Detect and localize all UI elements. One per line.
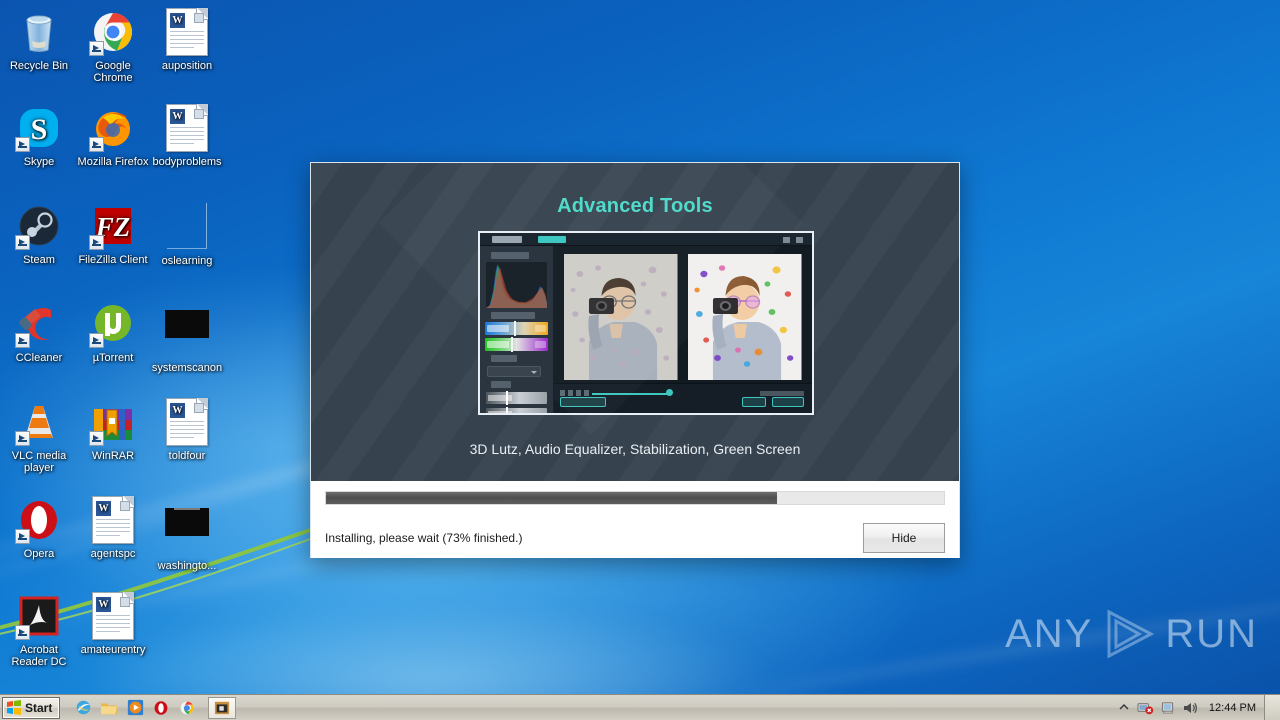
desktop-icon-label: Opera: [2, 548, 76, 560]
shortcut-overlay-icon: [15, 529, 30, 544]
desktop-icon-label: systemscanon: [150, 362, 224, 374]
banner-caption: 3D Lutz, Audio Equalizer, Stabilization,…: [311, 441, 959, 457]
system-tray[interactable]: 12:44 PM: [1113, 695, 1280, 720]
desktop-icon-label: oslearning: [150, 255, 224, 267]
opera-icon: [15, 496, 63, 544]
desktop-icon-opera[interactable]: Opera: [2, 496, 76, 560]
desktop-icon-label: auposition: [150, 60, 224, 72]
desktop-icon-ccleaner[interactable]: CCleaner: [2, 300, 76, 364]
desktop-icon-grid[interactable]: Recycle Bin Google Chrome W: [0, 0, 240, 690]
desktop-icon-steam[interactable]: Steam: [2, 202, 76, 266]
shortcut-overlay-icon: [89, 431, 104, 446]
zoom-slider-track[interactable]: [592, 393, 672, 395]
desktop-icon-label: VLC media player: [2, 450, 76, 474]
desktop-icon-skype[interactable]: S Skype: [2, 104, 76, 168]
desktop-icon-label: CCleaner: [2, 352, 76, 364]
filezilla-icon: FZ: [89, 202, 137, 250]
anyrun-watermark: ANY RUN: [1005, 608, 1258, 660]
exposure-slider[interactable]: [486, 392, 547, 404]
anyrun-play-logo-icon: [1101, 608, 1157, 660]
start-label: Start: [25, 701, 52, 715]
compare-split-icon[interactable]: [576, 390, 581, 396]
banner-title: Advanced Tools: [311, 163, 959, 218]
taskbar-internet-explorer[interactable]: [70, 697, 96, 719]
start-button[interactable]: Start: [2, 697, 60, 719]
mozilla-firefox-icon: [89, 104, 137, 152]
recycle-bin-icon: [15, 8, 63, 56]
desktop-icon-label: amateurentry: [76, 644, 150, 656]
cancel-button[interactable]: [772, 397, 804, 407]
action-center-flag-icon[interactable]: [1157, 697, 1179, 719]
histogram-graph: [486, 262, 547, 308]
desktop-icon-label: FileZilla Client: [76, 254, 150, 266]
hide-button[interactable]: Hide: [863, 523, 945, 553]
app-window-minimize-icon: [783, 237, 790, 243]
desktop-icon-auposition[interactable]: W auposition: [150, 8, 224, 72]
status-text: Installing, please wait (73% finished.): [325, 531, 522, 545]
temperature-slider[interactable]: [485, 322, 548, 335]
shortcut-overlay-icon: [15, 137, 30, 152]
ccleaner-icon: [15, 300, 63, 348]
tone-section-label: [491, 381, 511, 388]
app-tab-basic: [492, 236, 522, 243]
white-balance-section-label: [491, 312, 535, 319]
desktop-icon-toldfour[interactable]: W toldfour: [150, 398, 224, 462]
app-preview-area: [554, 246, 812, 413]
show-desktop-button[interactable]: [1264, 695, 1280, 720]
taskbar[interactable]: Start: [0, 694, 1280, 720]
shortcut-overlay-icon: [89, 333, 104, 348]
watermark-left-text: ANY: [1005, 612, 1093, 657]
desktop[interactable]: Recycle Bin Google Chrome W: [0, 0, 1280, 720]
ok-button[interactable]: [742, 397, 766, 407]
desktop-icon-label: Mozilla Firefox: [76, 156, 150, 168]
volume-icon[interactable]: [1179, 697, 1201, 719]
desktop-icon-label: agentspc: [76, 548, 150, 560]
app-titlebar: [480, 233, 812, 246]
preview-before-photo: [564, 254, 678, 380]
desktop-icon-label: WinRAR: [76, 450, 150, 462]
google-chrome-icon: [89, 8, 137, 56]
brightness-slider[interactable]: [486, 408, 547, 415]
desktop-icon-label: bodyproblems: [150, 156, 224, 168]
taskbar-google-chrome[interactable]: [174, 697, 200, 719]
desktop-icon-systemscanon[interactable]: systemscanon: [150, 300, 224, 374]
desktop-icon-winrar[interactable]: WinRAR: [76, 398, 150, 462]
preset-section-label: [491, 355, 517, 362]
desktop-icon-washington[interactable]: washingto...: [150, 496, 224, 572]
desktop-icon-label: Acrobat Reader DC: [2, 644, 76, 668]
taskbar-window-installer[interactable]: [208, 697, 236, 719]
desktop-icon-label: washingto...: [150, 560, 224, 572]
blank-file-icon: [163, 203, 211, 251]
svg-text:S: S: [31, 113, 48, 146]
steam-icon: [15, 202, 63, 250]
taskbar-windows-explorer[interactable]: [96, 697, 122, 719]
product-screenshot: [478, 231, 814, 415]
desktop-icon-google-chrome[interactable]: Google Chrome: [76, 8, 150, 84]
desktop-icon-utorrent[interactable]: µTorrent: [76, 300, 150, 364]
shortcut-overlay-icon: [15, 625, 30, 640]
zoom-slider-knob[interactable]: [666, 389, 673, 396]
desktop-icon-oslearning[interactable]: oslearning: [150, 202, 224, 267]
preview-after-photo: [688, 254, 802, 380]
app-window-close-icon: [796, 237, 803, 243]
shortcut-overlay-icon: [89, 41, 104, 56]
desktop-icon-label: Google Chrome: [76, 60, 150, 84]
resolution-readout: [760, 391, 804, 396]
shortcut-overlay-icon: [15, 333, 30, 348]
desktop-icon-amateurentry[interactable]: W amateurentry: [76, 592, 150, 656]
app-adjustment-panel: [480, 246, 554, 413]
desktop-icon-filezilla-client[interactable]: FZ FileZilla Client: [76, 202, 150, 266]
desktop-icon-label: µTorrent: [76, 352, 150, 364]
zoom-fit-icon[interactable]: [560, 390, 565, 396]
winrar-books-icon: [89, 398, 137, 446]
save-as-preset-button[interactable]: [560, 397, 606, 407]
installer-window-icon: [214, 700, 230, 716]
installer-banner: Advanced Tools: [311, 163, 959, 481]
show-hidden-icons-chevron[interactable]: [1113, 697, 1135, 719]
desktop-icon-acrobat-reader-dc[interactable]: Acrobat Reader DC: [2, 592, 76, 668]
utorrent-icon: [89, 300, 137, 348]
progress-bar: [325, 491, 945, 505]
shortcut-overlay-icon: [15, 235, 30, 250]
desktop-icon-bodyproblems[interactable]: W bodyproblems: [150, 104, 224, 168]
vlc-cone-icon: [15, 398, 63, 446]
word-document-icon: W: [89, 496, 137, 544]
tint-slider[interactable]: [485, 338, 548, 351]
internet-explorer-icon: [75, 699, 92, 716]
taskbar-opera[interactable]: [148, 697, 174, 719]
installer-window[interactable]: Advanced Tools: [310, 162, 960, 558]
google-chrome-icon: [179, 700, 195, 716]
desktop-icon-label: Skype: [2, 156, 76, 168]
black-file-icon: [163, 310, 211, 358]
acrobat-reader-icon: [15, 592, 63, 640]
shortcut-overlay-icon: [89, 235, 104, 250]
desktop-icon-recycle-bin[interactable]: Recycle Bin: [2, 8, 76, 72]
app-bottom-toolbar: [554, 383, 812, 413]
black-file-icon: [163, 508, 211, 556]
installer-progress-area: Installing, please wait (73% finished.) …: [311, 481, 959, 558]
opera-icon: [153, 700, 169, 716]
preset-dropdown[interactable]: [487, 366, 541, 377]
zoom-out-icon[interactable]: [568, 390, 573, 396]
windows-media-player-icon: [127, 699, 144, 716]
compare-side-icon[interactable]: [584, 390, 589, 396]
word-document-icon: W: [163, 8, 211, 56]
app-tab-advanced: [538, 236, 566, 243]
word-document-icon: W: [163, 398, 211, 446]
desktop-icon-label: Recycle Bin: [2, 60, 76, 72]
taskbar-windows-media-player[interactable]: [122, 697, 148, 719]
desktop-icon-mozilla-firefox[interactable]: Mozilla Firefox: [76, 104, 150, 168]
taskbar-clock[interactable]: 12:44 PM: [1201, 702, 1264, 714]
network-disconnected-icon[interactable]: [1135, 697, 1157, 719]
desktop-icon-label: toldfour: [150, 450, 224, 462]
skype-icon: S: [15, 104, 63, 152]
progress-bar-fill: [326, 492, 777, 504]
histogram-section-label: [491, 252, 529, 259]
desktop-icon-agentspc[interactable]: W agentspc: [76, 496, 150, 560]
shortcut-overlay-icon: [89, 137, 104, 152]
desktop-icon-vlc-media-player[interactable]: VLC media player: [2, 398, 76, 474]
watermark-right-text: RUN: [1165, 612, 1258, 657]
desktop-icon-label: Steam: [2, 254, 76, 266]
windows-logo-icon: [6, 700, 22, 716]
shortcut-overlay-icon: [15, 431, 30, 446]
windows-explorer-icon: [100, 700, 118, 716]
word-document-icon: W: [89, 592, 137, 640]
word-document-icon: W: [163, 104, 211, 152]
